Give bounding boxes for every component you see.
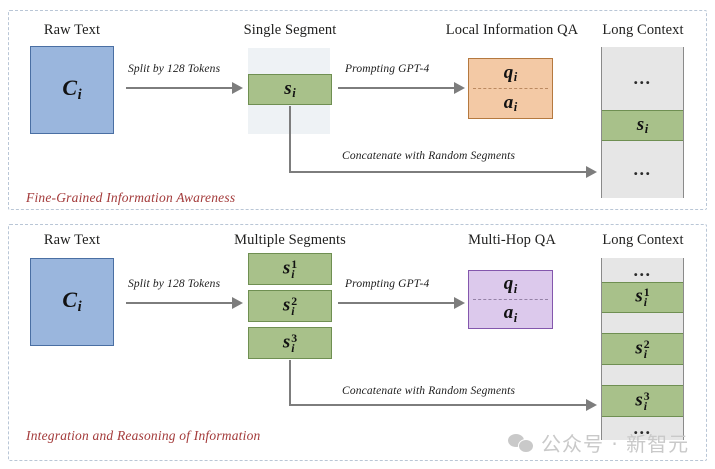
arrow-label-split-top: Split by 128 Tokens [128,63,220,75]
figure-canvas: Raw Text Single Segment Local Informatio… [0,0,715,469]
arrow-concatenate-head-top [586,166,597,178]
arrow-prompting-head-top [454,82,465,94]
arrow-prompting-bottom [338,302,456,304]
context-band-segment-bottom-3: s3i [602,385,683,417]
raw-text-box-bottom: Ci [30,258,114,346]
context-band-ellipsis-top-2: ... [602,141,683,198]
arrow-label-concatenate-bottom: Concatenate with Random Segments [342,385,515,397]
raw-text-box-top: Ci [30,46,114,134]
qa-question-top: qi [469,59,552,88]
context-band-segment-top: si [602,110,683,141]
raw-text-symbol-bottom: Ci [62,289,81,315]
segment-symbol-top-1: si [284,79,295,100]
arrow-split-head-bottom [232,297,243,309]
header-multi-hop-qa: Multi-Hop QA [438,232,586,249]
watermark: 公众号 · 新智元 [508,428,689,457]
arrow-split-top [126,87,234,89]
wechat-icon [508,433,534,453]
elbow-concatenate-top [289,106,307,173]
context-band-segment-bottom-1: s1i [602,282,683,313]
qa-answer-top: ai [469,89,552,118]
segment-box-top-1: si [248,74,332,105]
qa-answer-bottom: ai [469,300,552,328]
arrow-prompting-head-bottom [454,297,465,309]
multi-hop-qa-box: qi ai [468,270,553,329]
header-multiple-segments: Multiple Segments [212,232,368,249]
local-information-qa-box: qi ai [468,58,553,119]
header-single-segment: Single Segment [222,22,358,39]
context-band-segment-bottom-2: s2i [602,333,683,365]
arrow-concatenate-top [305,171,588,173]
header-long-context-bottom: Long Context [590,232,696,249]
long-context-column-bottom: ... s1i s2i s3i ... [601,258,684,440]
caption-fine-grained: Fine-Grained Information Awareness [26,190,235,206]
arrow-split-bottom [126,302,234,304]
context-band-ellipsis-top-1: ... [602,47,683,110]
context-band-ellipsis-bottom-1: ... [602,258,683,282]
arrow-label-split-bottom: Split by 128 Tokens [128,278,220,290]
qa-question-bottom: qi [469,271,552,299]
header-long-context-top: Long Context [590,22,696,39]
context-band-gap-bottom-2 [602,365,683,385]
watermark-text: 公众号 · 新智元 [541,428,689,457]
elbow-concatenate-bottom [289,360,307,406]
arrow-label-prompting-bottom: Prompting GPT-4 [345,278,429,290]
arrow-label-prompting-top: Prompting GPT-4 [345,63,429,75]
header-local-information-qa: Local Information QA [438,22,586,39]
long-context-column-top: ... si ... [601,47,684,198]
arrow-label-concatenate-top: Concatenate with Random Segments [342,150,515,162]
arrow-concatenate-bottom [305,404,588,406]
header-raw-text-top: Raw Text [16,22,128,39]
arrow-concatenate-head-bottom [586,399,597,411]
arrow-split-head-top [232,82,243,94]
arrow-prompting-top [338,87,456,89]
raw-text-symbol-top: Ci [62,77,81,103]
header-raw-text-bottom: Raw Text [16,232,128,249]
caption-integration: Integration and Reasoning of Information [26,428,261,444]
segment-box-bottom-2: s2i [248,290,332,322]
segment-box-bottom-1: s1i [248,253,332,285]
segment-box-bottom-3: s3i [248,327,332,359]
context-band-gap-bottom-1 [602,313,683,333]
